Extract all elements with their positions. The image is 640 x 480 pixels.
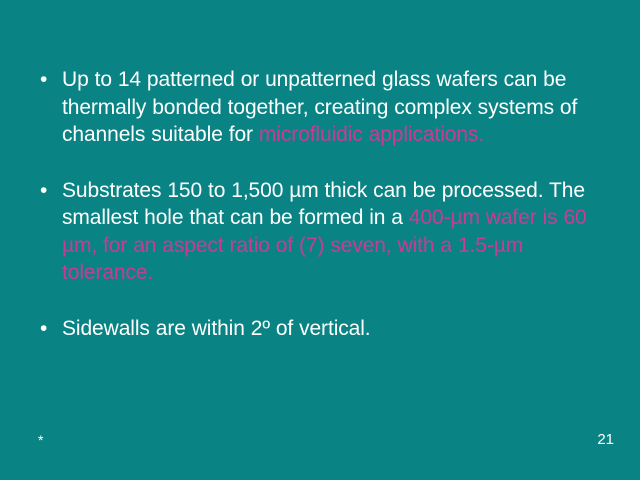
bullet-point-icon-2: • [36,177,62,205]
slide-page-number: 21 [597,432,614,448]
bullet-text-3: Sidewalls are within 2º of vertical. [62,315,612,343]
bullet-text-2: Substrates 150 to 1,500 µm thick can be … [62,177,612,287]
bullet-item-1: • Up to 14 patterned or unpatterned glas… [36,66,612,149]
bullet-item-3: • Sidewalls are within 2º of vertical. [36,315,612,343]
bullet-3-segment-normal: Sidewalls are within 2º of vertical. [62,317,371,340]
bullet-point-icon-1: • [36,66,62,94]
bullet-text-1: Up to 14 patterned or unpatterned glass … [62,66,610,149]
bullet-point-icon-3: • [36,315,62,343]
slide-canvas: • Up to 14 patterned or unpatterned glas… [0,0,640,480]
slide-body: • Up to 14 patterned or unpatterned glas… [36,66,612,342]
bullet-1-segment-highlight: microfluidic applications. [259,123,484,146]
footer-asterisk-mark: * [38,433,43,447]
bullet-item-2: • Substrates 150 to 1,500 µm thick can b… [36,177,612,287]
